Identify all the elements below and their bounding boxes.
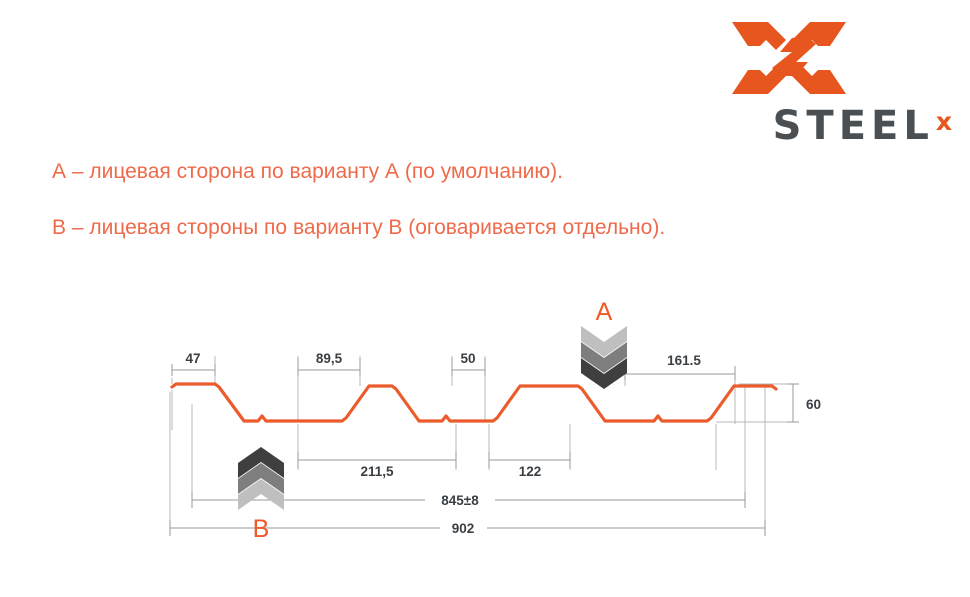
dim-161-5-label: 161.5 bbox=[667, 353, 701, 368]
dim-60: 60 bbox=[787, 384, 821, 422]
dim-50-label: 50 bbox=[460, 351, 475, 366]
marker-a: А bbox=[581, 298, 627, 389]
dim-89-5-label: 89,5 bbox=[316, 351, 343, 366]
dim-902-label: 902 bbox=[452, 521, 475, 536]
marker-a-label: А bbox=[596, 298, 613, 326]
dim-47: 47 bbox=[172, 351, 215, 376]
dim-161-5: 161.5 bbox=[625, 353, 735, 380]
dim-845-label: 845±8 bbox=[441, 493, 479, 508]
dim-47-label: 47 bbox=[185, 351, 200, 366]
dim-122-label: 122 bbox=[519, 464, 542, 479]
marker-b-chevrons bbox=[238, 447, 284, 510]
dim-89-5: 89,5 bbox=[298, 351, 360, 376]
dim-211-5-label: 211,5 bbox=[360, 464, 394, 479]
marker-a-chevrons bbox=[581, 326, 627, 389]
extension-lines bbox=[170, 356, 793, 528]
dim-122: 122 bbox=[489, 452, 570, 479]
marker-b-label: В bbox=[253, 515, 270, 543]
sheet-profile-path bbox=[172, 384, 776, 421]
dim-211-5: 211,5 bbox=[298, 452, 456, 479]
dim-60-label: 60 bbox=[806, 397, 821, 412]
marker-b: В bbox=[238, 447, 284, 543]
dim-50: 50 bbox=[452, 351, 485, 376]
profile-technical-drawing: 47 89,5 50 161.5 60 211,5 bbox=[0, 0, 970, 597]
